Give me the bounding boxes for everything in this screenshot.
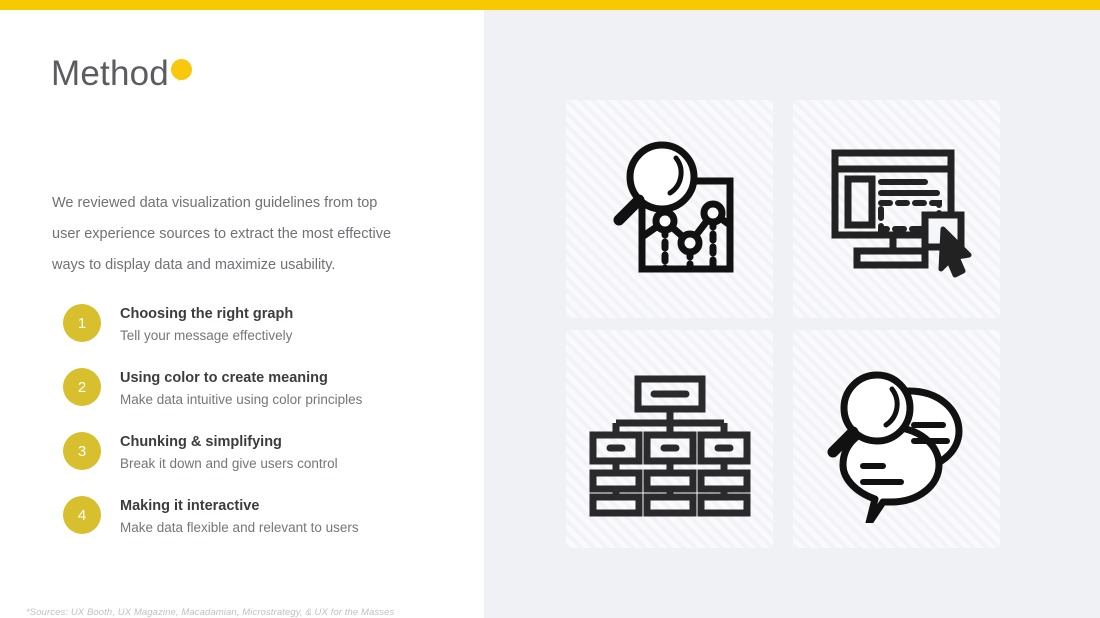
illustration-tile xyxy=(566,100,773,318)
monitor-cursor-wireframe-icon xyxy=(813,125,981,293)
list-item-title: Using color to create meaning xyxy=(120,368,362,388)
magnifier-line-chart-icon xyxy=(586,125,754,293)
page-title: Method xyxy=(51,56,192,91)
list-item[interactable]: 1 Choosing the right graph Tell your mes… xyxy=(63,303,463,346)
slide-root: Method We reviewed data visualization gu… xyxy=(0,0,1100,618)
sitemap-hierarchy-icon xyxy=(586,355,754,523)
sources-footnote: *Sources: UX Booth, UX Magazine, Macadam… xyxy=(26,607,394,618)
list-item[interactable]: 4 Making it interactive Make data flexib… xyxy=(63,495,463,538)
list-item-body: Chunking & simplifying Break it down and… xyxy=(120,431,338,474)
illustration-tile xyxy=(793,100,1000,318)
list-item-title: Making it interactive xyxy=(120,496,359,516)
illustration-tile xyxy=(793,330,1000,548)
speech-bubble-dot-icon xyxy=(171,59,192,80)
list-item[interactable]: 3 Chunking & simplifying Break it down a… xyxy=(63,431,463,474)
list-item-title: Choosing the right graph xyxy=(120,304,293,324)
illustration-tile xyxy=(566,330,773,548)
list-item-subtitle: Break it down and give users control xyxy=(120,454,338,474)
step-number-badge: 1 xyxy=(63,304,101,342)
left-content-pane: Method We reviewed data visualization gu… xyxy=(0,10,484,618)
list-item-body: Using color to create meaning Make data … xyxy=(120,367,362,410)
step-number-badge: 3 xyxy=(63,432,101,470)
illustration-pane xyxy=(484,10,1100,618)
page-title-text: Method xyxy=(51,56,169,91)
list-item-body: Choosing the right graph Tell your messa… xyxy=(120,303,293,346)
bubble-circle-shape xyxy=(171,59,192,80)
list-item-subtitle: Make data intuitive using color principl… xyxy=(120,390,362,410)
intro-paragraph: We reviewed data visualization guideline… xyxy=(52,188,407,281)
list-item-subtitle: Tell your message effectively xyxy=(120,326,293,346)
list-item-title: Chunking & simplifying xyxy=(120,432,338,452)
top-accent-bar xyxy=(0,0,1100,10)
speech-bubbles-magnifier-icon xyxy=(813,355,981,523)
list-item[interactable]: 2 Using color to create meaning Make dat… xyxy=(63,367,463,410)
method-steps-list: 1 Choosing the right graph Tell your mes… xyxy=(63,303,463,538)
step-number-badge: 2 xyxy=(63,368,101,406)
list-item-body: Making it interactive Make data flexible… xyxy=(120,495,359,538)
step-number-badge: 4 xyxy=(63,496,101,534)
list-item-subtitle: Make data flexible and relevant to users xyxy=(120,518,359,538)
